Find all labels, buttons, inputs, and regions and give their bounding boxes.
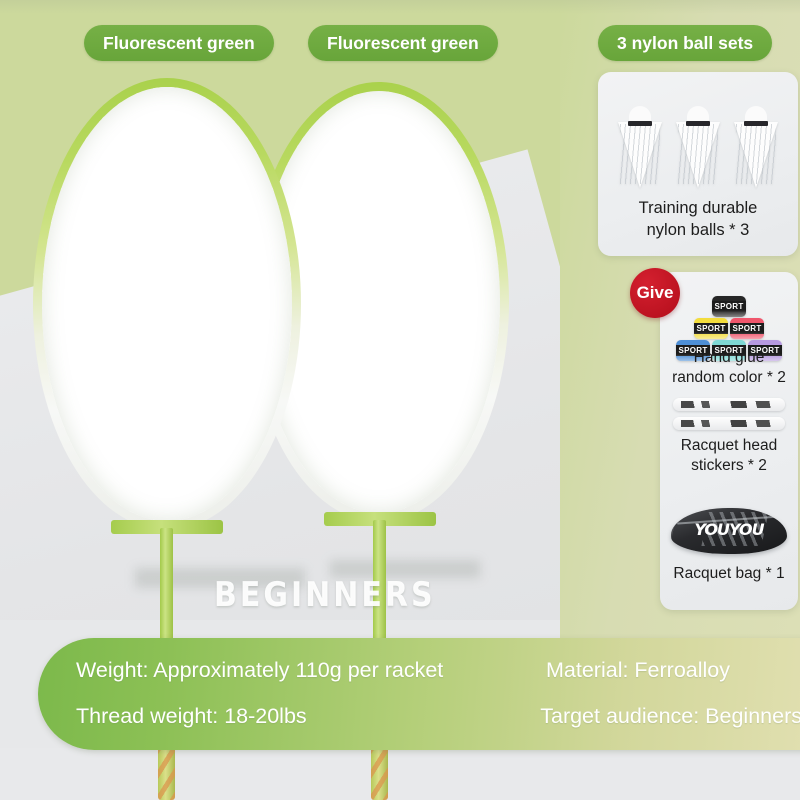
head-sticker-icon (673, 417, 785, 430)
racquet-bag-caption: Racquet bag * 1 (660, 564, 798, 584)
give-badge: Give (630, 268, 680, 318)
beginners-watermark: BEGINNERS (214, 576, 436, 615)
hand-glue-caption-line1: Hand glue (660, 348, 798, 368)
racket-left-shaft (160, 528, 173, 642)
racket-left-strings (42, 87, 292, 521)
shuttlecock-icon (676, 106, 720, 192)
spec-row-bottom: Thread weight: 18-20lbs Target audience:… (76, 704, 800, 729)
nylon-balls-panel: Training durable nylon balls * 3 (598, 72, 798, 256)
product-image: BEGINNERS Fluorescent green Fluorescent … (0, 0, 800, 800)
racquet-bag-logo: YOUYOU (671, 520, 787, 539)
spec-row-top: Weight: Approximately 110g per racket Ma… (76, 658, 800, 683)
shuttlecock-group (598, 106, 798, 192)
gift-racquet-bag: YOUYOU Racquet bag * 1 (660, 508, 798, 608)
hand-glue-caption-line2: random color * 2 (660, 368, 798, 388)
gift-hand-glue: SPORT SPORT SPORT SPORT SPORT SPORT Hand… (660, 272, 798, 390)
spec-thread-weight: Thread weight: 18-20lbs (76, 704, 540, 729)
badge-color-right[interactable]: Fluorescent green (308, 25, 498, 61)
spec-weight: Weight: Approximately 110g per racket (76, 658, 546, 683)
badge-color-left[interactable]: Fluorescent green (84, 25, 274, 61)
racket-right-grip (371, 745, 388, 800)
spec-target-audience: Target audience: Beginners (540, 704, 800, 729)
head-sticker-icon (673, 398, 785, 411)
head-stickers-caption-line2: stickers * 2 (660, 456, 798, 476)
nylon-balls-caption: Training durable nylon balls * 3 (598, 198, 798, 242)
racket-left-grip (158, 745, 175, 800)
racquet-bag-caption-line1: Racquet bag * 1 (660, 564, 798, 584)
racquet-bag-icon: YOUYOU (671, 508, 787, 554)
racket-left-head (33, 78, 301, 530)
gifts-panel: SPORT SPORT SPORT SPORT SPORT SPORT Hand… (660, 272, 798, 610)
badge-ball-sets[interactable]: 3 nylon ball sets (598, 25, 772, 61)
nylon-balls-caption-line2: nylon balls * 3 (598, 220, 798, 242)
head-stickers-caption: Racquet head stickers * 2 (660, 436, 798, 477)
grip-roll-pink: SPORT (730, 318, 764, 339)
shuttlecock-icon (618, 106, 662, 192)
grip-roll-black: SPORT (712, 296, 746, 317)
spec-banner: Weight: Approximately 110g per racket Ma… (38, 638, 800, 750)
spec-material: Material: Ferroalloy (546, 658, 730, 683)
gift-head-stickers: Racquet head stickers * 2 (660, 398, 798, 502)
background-top-vignette (0, 0, 800, 14)
nylon-balls-caption-line1: Training durable (598, 198, 798, 220)
hand-glue-caption: Hand glue random color * 2 (660, 348, 798, 389)
background-bottom-strip (0, 748, 800, 800)
shuttlecock-icon (734, 106, 778, 192)
head-stickers-caption-line1: Racquet head (660, 436, 798, 456)
grip-roll-yellow: SPORT (694, 318, 728, 339)
